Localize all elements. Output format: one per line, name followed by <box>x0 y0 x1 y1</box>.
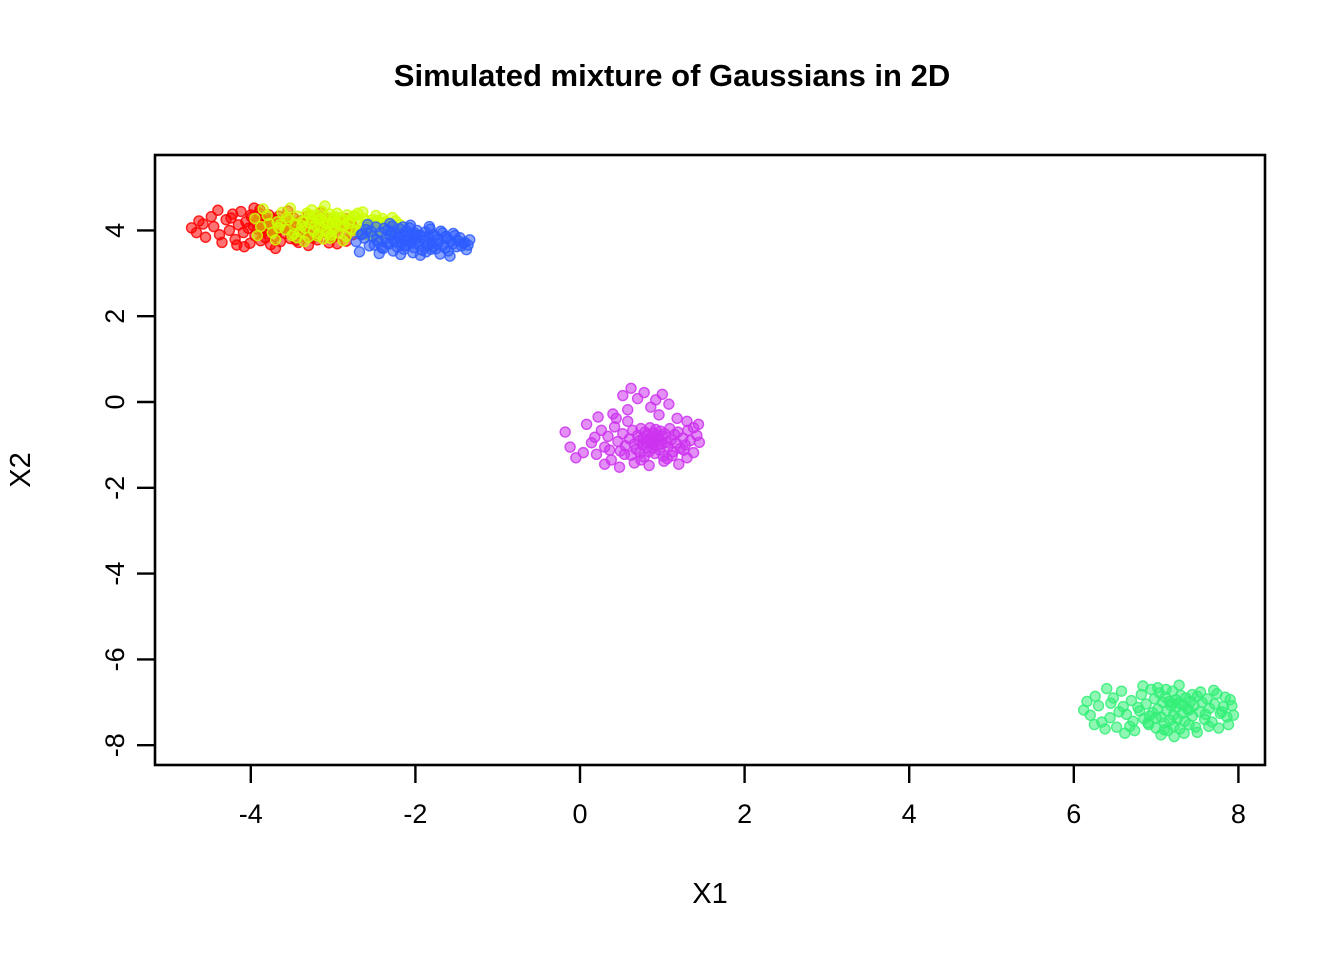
data-point <box>258 204 268 214</box>
x-axis-tick-labels: -4-202468 <box>239 799 1246 829</box>
data-point <box>1135 706 1145 716</box>
data-point <box>198 219 208 229</box>
data-point <box>354 247 364 257</box>
data-point <box>285 203 295 213</box>
data-point <box>1224 720 1234 730</box>
data-point <box>578 448 588 458</box>
data-point <box>1118 702 1128 712</box>
y-tick-label: -4 <box>100 562 130 586</box>
data-point <box>264 219 274 229</box>
data-point <box>619 449 629 459</box>
data-point <box>560 427 570 437</box>
data-point <box>191 228 201 238</box>
data-point <box>1089 720 1099 730</box>
data-point <box>593 412 603 422</box>
x-tick-label: 2 <box>737 799 752 829</box>
y-axis-tick-labels: 420-2-4-6-8 <box>100 223 130 757</box>
y-tick-label: 4 <box>100 223 130 238</box>
data-point <box>372 235 382 245</box>
data-point <box>297 221 307 231</box>
data-point <box>664 399 674 409</box>
data-point <box>611 413 621 423</box>
data-point <box>1159 725 1169 735</box>
data-point <box>1102 684 1112 694</box>
data-point <box>1209 685 1219 695</box>
data-point <box>626 383 636 393</box>
data-point <box>1179 728 1189 738</box>
data-point <box>679 445 689 455</box>
data-point <box>340 220 350 230</box>
data-point <box>1217 707 1227 717</box>
y-tick-label: -6 <box>100 647 130 671</box>
data-point <box>1228 710 1238 720</box>
data-point <box>1108 693 1118 703</box>
data-point <box>662 454 672 464</box>
data-point <box>224 225 234 235</box>
plot-figure: Simulated mixture of Gaussians in 2D -4-… <box>0 0 1344 960</box>
scatter-plot-canvas: -4-202468 420-2-4-6-8 X1 X2 <box>0 0 1344 960</box>
data-point <box>591 449 601 459</box>
data-point <box>1082 696 1092 706</box>
data-point <box>236 207 246 217</box>
data-point <box>1100 724 1110 734</box>
data-point <box>623 405 633 415</box>
data-point <box>410 228 420 238</box>
x-tick-label: 8 <box>1231 799 1246 829</box>
data-point <box>694 437 704 447</box>
data-point <box>565 442 575 452</box>
data-point <box>226 213 236 223</box>
data-point <box>600 459 610 469</box>
data-point <box>1085 710 1095 720</box>
x-tick-label: -2 <box>403 799 427 829</box>
data-point <box>605 445 615 455</box>
data-point <box>292 233 302 243</box>
x-tick-label: 6 <box>1066 799 1081 829</box>
data-point <box>1125 721 1135 731</box>
data-point <box>672 413 682 423</box>
x-tick-label: -4 <box>239 799 263 829</box>
data-point <box>1105 713 1115 723</box>
data-point <box>1225 695 1235 705</box>
data-point <box>393 231 403 241</box>
y-tick-label: 0 <box>100 394 130 409</box>
plot-frame-box <box>155 155 1265 765</box>
data-point <box>1184 705 1194 715</box>
data-point <box>312 231 322 241</box>
data-point <box>382 238 392 248</box>
data-point <box>1204 721 1214 731</box>
data-point <box>332 208 342 218</box>
data-point <box>252 231 262 241</box>
x-axis-ticks <box>251 765 1239 783</box>
data-point <box>426 244 436 254</box>
y-tick-label: -8 <box>100 733 130 757</box>
data-point <box>274 223 284 233</box>
y-axis-ticks <box>137 230 155 745</box>
x-axis-title: X1 <box>692 878 727 910</box>
data-point <box>636 455 646 465</box>
data-point <box>1200 709 1210 719</box>
data-point <box>213 205 223 215</box>
data-point <box>1153 683 1163 693</box>
y-tick-label: 2 <box>100 309 130 324</box>
data-point <box>590 432 600 442</box>
data-point <box>1214 723 1224 733</box>
data-point <box>424 222 434 232</box>
data-point <box>694 419 704 429</box>
y-axis-title: X2 <box>5 452 37 487</box>
data-point <box>654 410 664 420</box>
data-point <box>232 240 242 250</box>
x-tick-label: 0 <box>572 799 587 829</box>
data-point <box>1192 727 1202 737</box>
data-point <box>338 236 348 246</box>
data-point <box>443 234 453 244</box>
data-point <box>618 391 628 401</box>
data-point <box>217 237 227 247</box>
data-point <box>282 213 292 223</box>
y-tick-label: -2 <box>100 476 130 500</box>
data-point <box>327 218 337 228</box>
data-point <box>1093 701 1103 711</box>
data-point <box>615 462 625 472</box>
data-point <box>1169 732 1179 742</box>
data-point <box>1168 698 1178 708</box>
data-point <box>682 416 692 426</box>
data-point <box>270 235 280 245</box>
data-point <box>1138 681 1148 691</box>
data-point <box>320 201 330 211</box>
data-point <box>398 222 408 232</box>
data-point <box>1187 690 1197 700</box>
x-tick-label: 4 <box>902 799 917 829</box>
data-point <box>315 214 325 224</box>
data-point <box>323 228 333 238</box>
data-point <box>1174 680 1184 690</box>
data-point <box>657 389 667 399</box>
data-point <box>1143 718 1153 728</box>
data-point <box>1117 686 1127 696</box>
data-point <box>358 229 368 239</box>
data-point <box>304 210 314 220</box>
data-point <box>582 419 592 429</box>
data-point <box>639 388 649 398</box>
data-point <box>603 431 613 441</box>
data-point <box>350 211 360 221</box>
data-point <box>463 240 473 250</box>
